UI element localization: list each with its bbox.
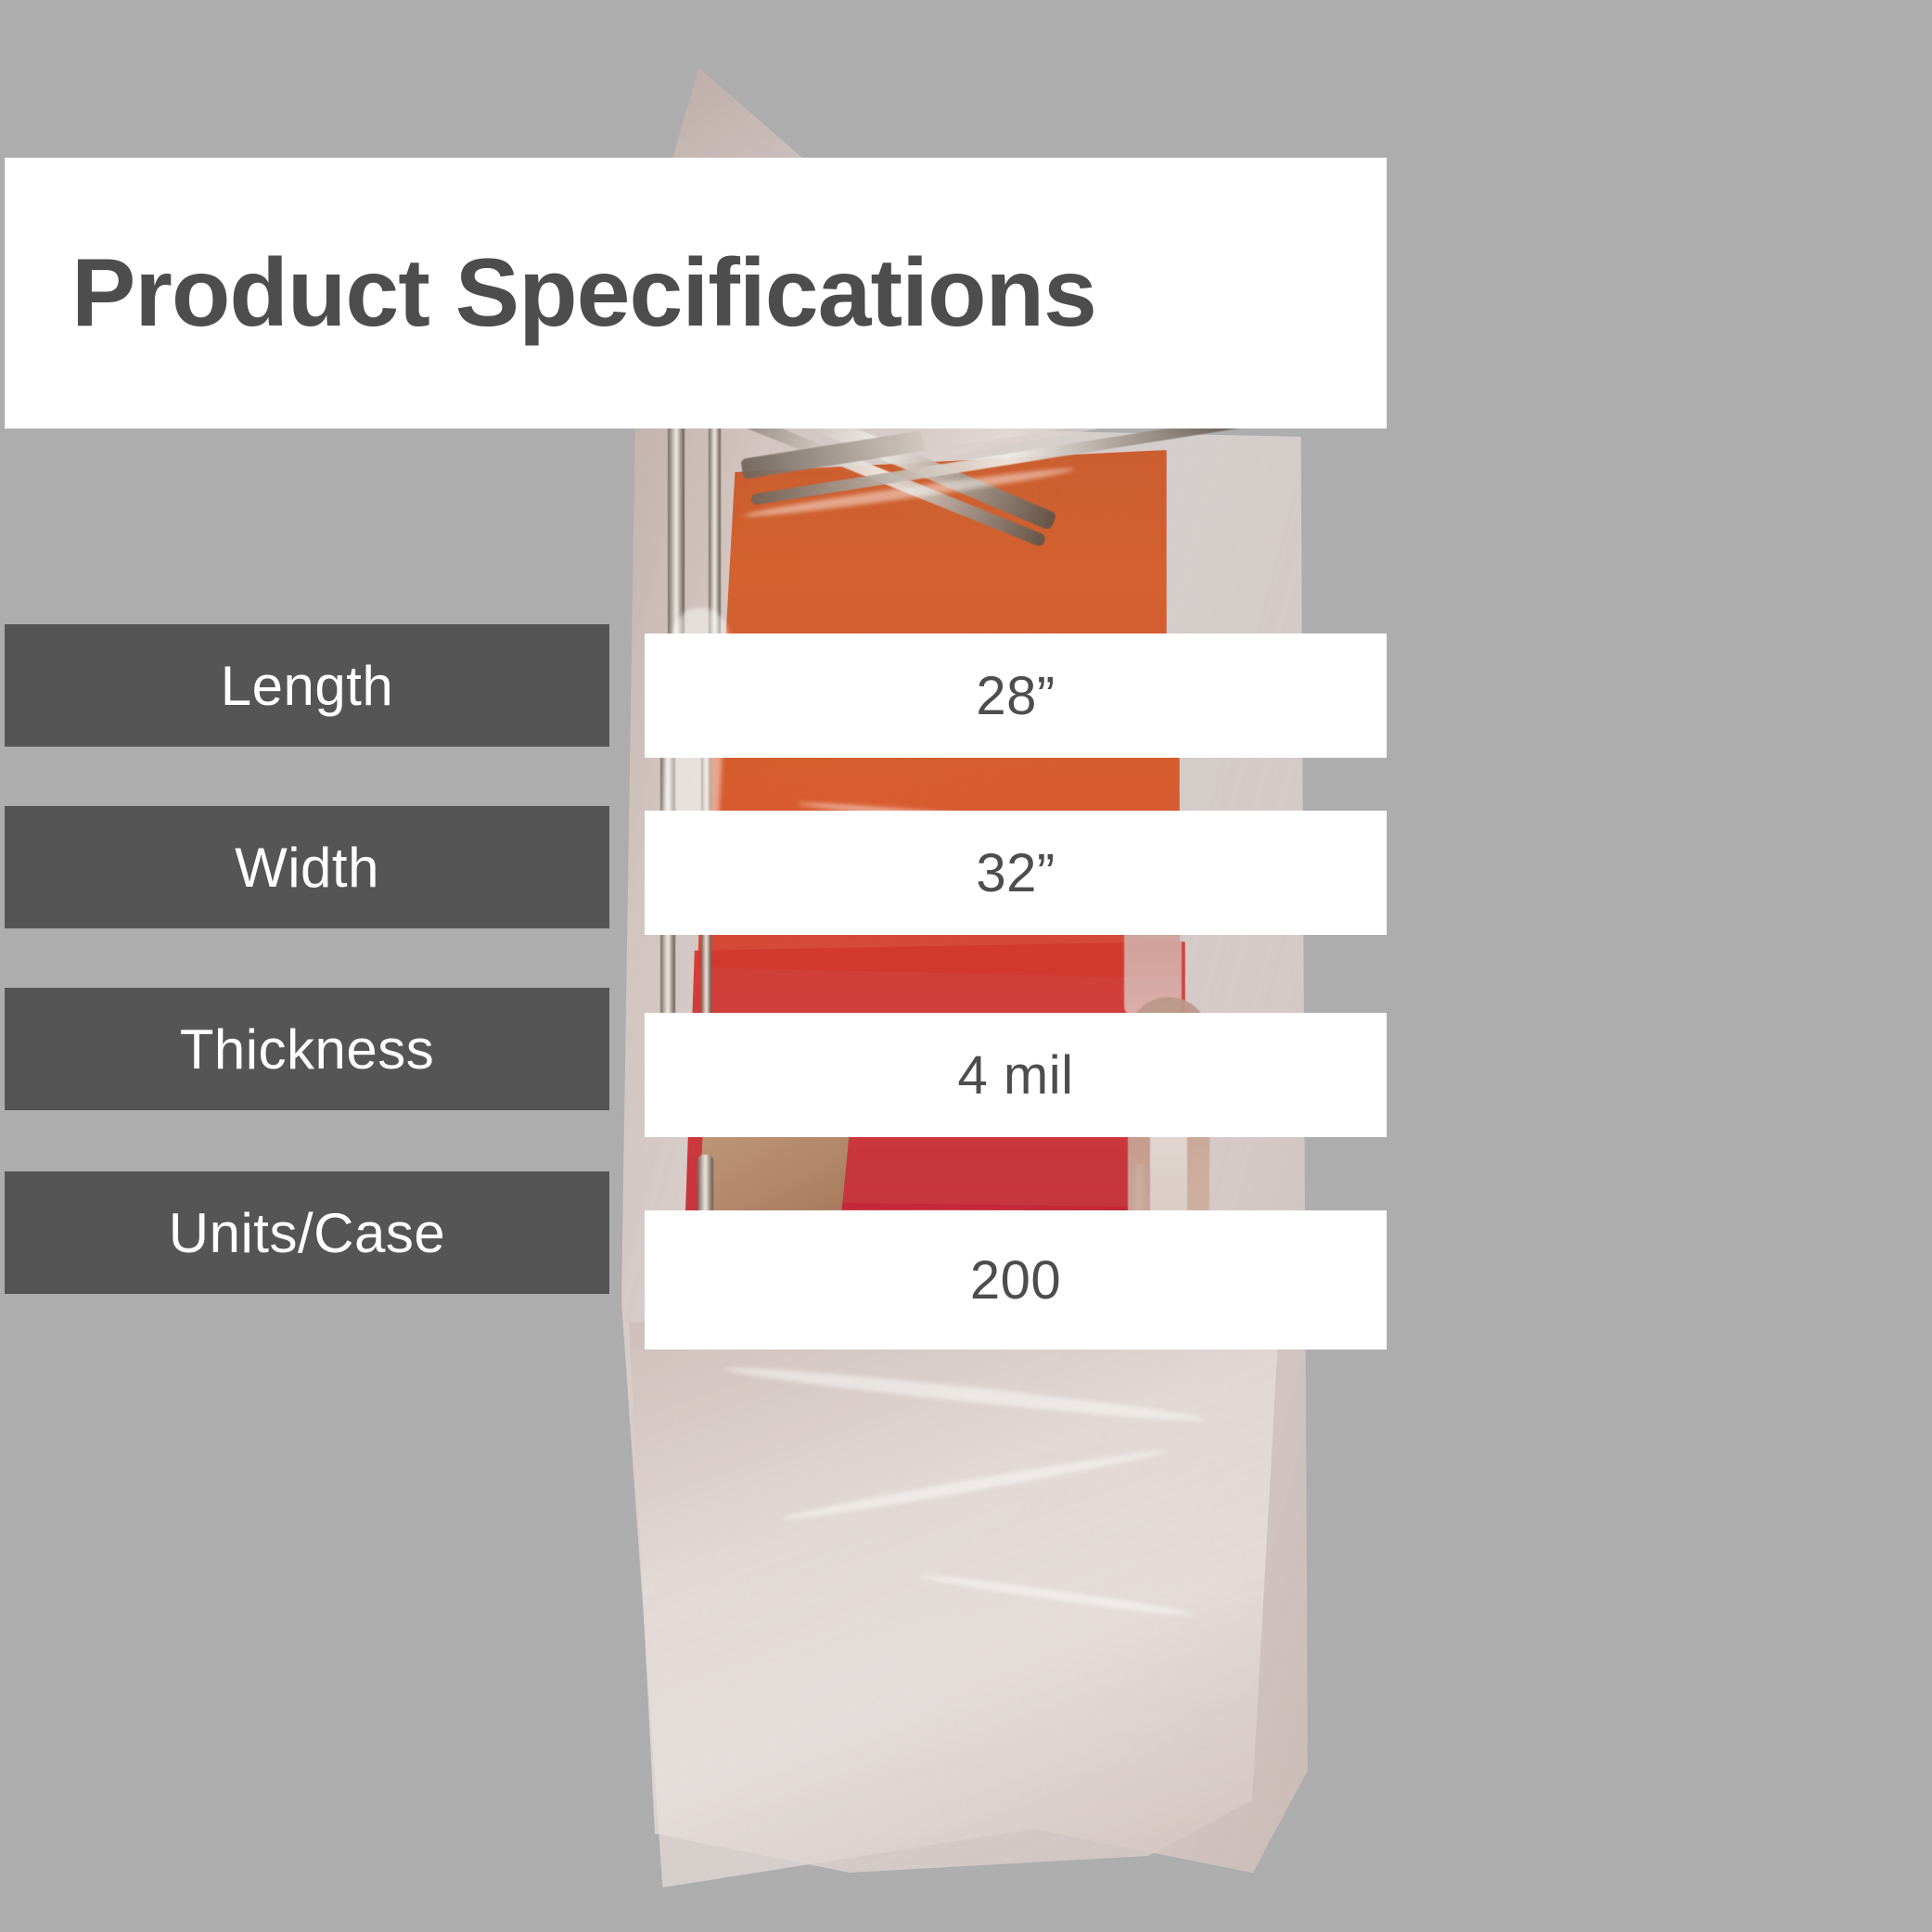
spec-value-text: 28”: [976, 665, 1055, 727]
spec-label-width: Width: [5, 806, 609, 928]
spec-label-text: Units/Case: [169, 1201, 445, 1265]
spec-value-width: 32”: [645, 811, 1387, 935]
spec-label-units-per-case: Units/Case: [5, 1171, 609, 1294]
spec-value-text: 32”: [976, 842, 1055, 904]
spec-label-text: Length: [221, 654, 394, 718]
spec-value-length: 28”: [645, 633, 1387, 758]
spec-value-text: 200: [970, 1249, 1061, 1311]
poly-bag-bottom: [629, 1322, 1278, 1878]
spec-value-units-per-case: 200: [645, 1210, 1387, 1350]
spec-value-text: 4 mil: [958, 1044, 1074, 1107]
title-banner: Product Specifications: [5, 158, 1387, 429]
spec-label-thickness: Thickness: [5, 988, 609, 1110]
spec-label-text: Width: [235, 836, 379, 900]
spec-label-text: Thickness: [180, 1017, 435, 1081]
spec-value-thickness: 4 mil: [645, 1013, 1387, 1137]
page-title: Product Specifications: [5, 238, 1096, 349]
spec-label-length: Length: [5, 624, 609, 747]
